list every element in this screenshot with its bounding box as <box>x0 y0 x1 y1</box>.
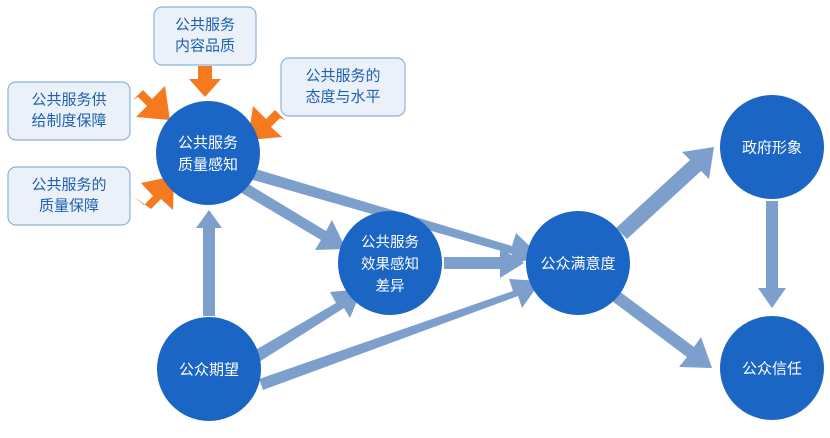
edge-satisfaction-to-image <box>616 147 714 239</box>
node-effect-perception-gap: 公共服务 效果感知 差异 <box>338 211 442 315</box>
node-government-image: 政府形象 <box>720 95 824 199</box>
node-public-satisfaction: 公众满意度 <box>526 211 630 315</box>
node-quality-perception: 公共服务 质量感知 <box>156 101 260 205</box>
box-service-content-quality: 公共服务 内容品质 <box>154 7 256 65</box>
box-service-quality-guarantee: 公共服务的 质量保障 <box>8 167 130 225</box>
edge-content-quality-to-perception <box>189 66 221 97</box>
box-service-supply-system-guarantee: 公共服务供 给制度保障 <box>8 82 130 140</box>
node-public-trust: 公众信任 <box>720 316 824 420</box>
node-public-expectation: 公众期望 <box>157 317 261 421</box>
box-service-attitude-and-level: 公共服务的 态度与水平 <box>281 58 405 116</box>
edge-expectation-to-perception <box>196 210 222 316</box>
blue-edges-group <box>196 147 786 390</box>
diagram-canvas: 公共服务 内容品质 公共服务供 给制度保障 公共服务的 质量保障 公共服务的 态… <box>0 0 830 438</box>
edge-supply-system-to-perception <box>133 86 170 120</box>
edge-satisfaction-to-trust <box>612 291 712 368</box>
edge-image-to-trust <box>758 201 786 308</box>
diagram-svg: 公共服务 内容品质 公共服务供 给制度保障 公共服务的 质量保障 公共服务的 态… <box>0 0 830 438</box>
